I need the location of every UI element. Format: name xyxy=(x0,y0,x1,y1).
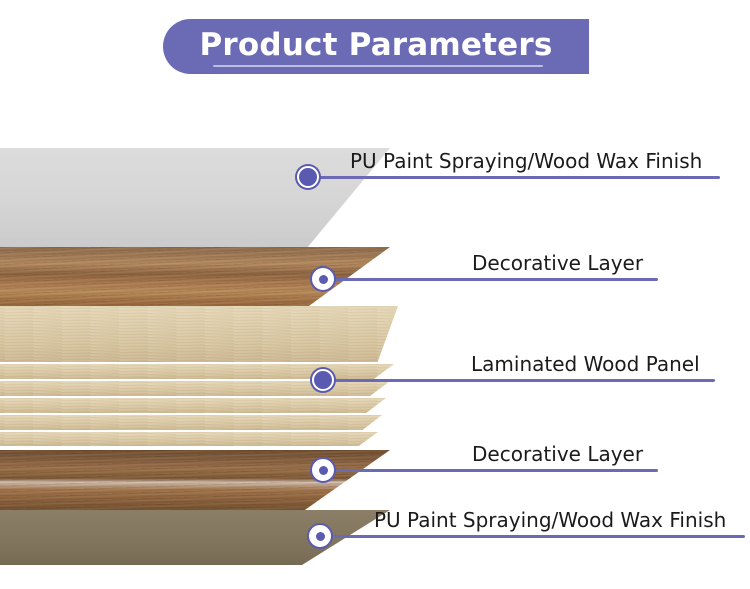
callout-leader-line xyxy=(323,379,715,382)
layer-pu-paint-top-surface xyxy=(0,148,390,254)
plywood-ply xyxy=(0,432,378,446)
layer-decorative-veneer-bottom xyxy=(0,450,390,512)
callout-leader-line xyxy=(323,278,658,281)
callout-label: Decorative Layer xyxy=(472,444,643,464)
layer-laminated-wood-core xyxy=(0,306,398,446)
callout-label: PU Paint Spraying/Wood Wax Finish xyxy=(374,510,726,530)
plywood-ply xyxy=(0,398,386,413)
plywood-ply xyxy=(0,415,382,430)
layer-decorative-veneer-bottom-surface xyxy=(0,450,390,512)
callout-ring-dot-marker-icon xyxy=(312,459,334,481)
callout-leader-line xyxy=(323,469,658,472)
callout-label: PU Paint Spraying/Wood Wax Finish xyxy=(350,151,702,171)
callout-leader-line xyxy=(308,176,720,179)
callout-label: Decorative Layer xyxy=(472,253,643,273)
plywood-ply xyxy=(0,364,394,379)
page-title: Product Parameters xyxy=(199,30,552,64)
callout-leader-line xyxy=(320,535,745,538)
callout-ring-dot-marker-icon xyxy=(297,166,319,188)
title-underline-accent xyxy=(213,65,543,67)
plywood-ply xyxy=(0,306,398,362)
layer-pu-paint-top xyxy=(0,148,390,254)
panel-cross-section-illustration xyxy=(0,110,420,575)
callout-ring-dot-marker-icon xyxy=(312,268,334,290)
callout-ring-dot-marker-icon xyxy=(312,369,334,391)
callout-ring-dot-marker-icon xyxy=(309,525,331,547)
callout-label: Laminated Wood Panel xyxy=(471,354,700,374)
